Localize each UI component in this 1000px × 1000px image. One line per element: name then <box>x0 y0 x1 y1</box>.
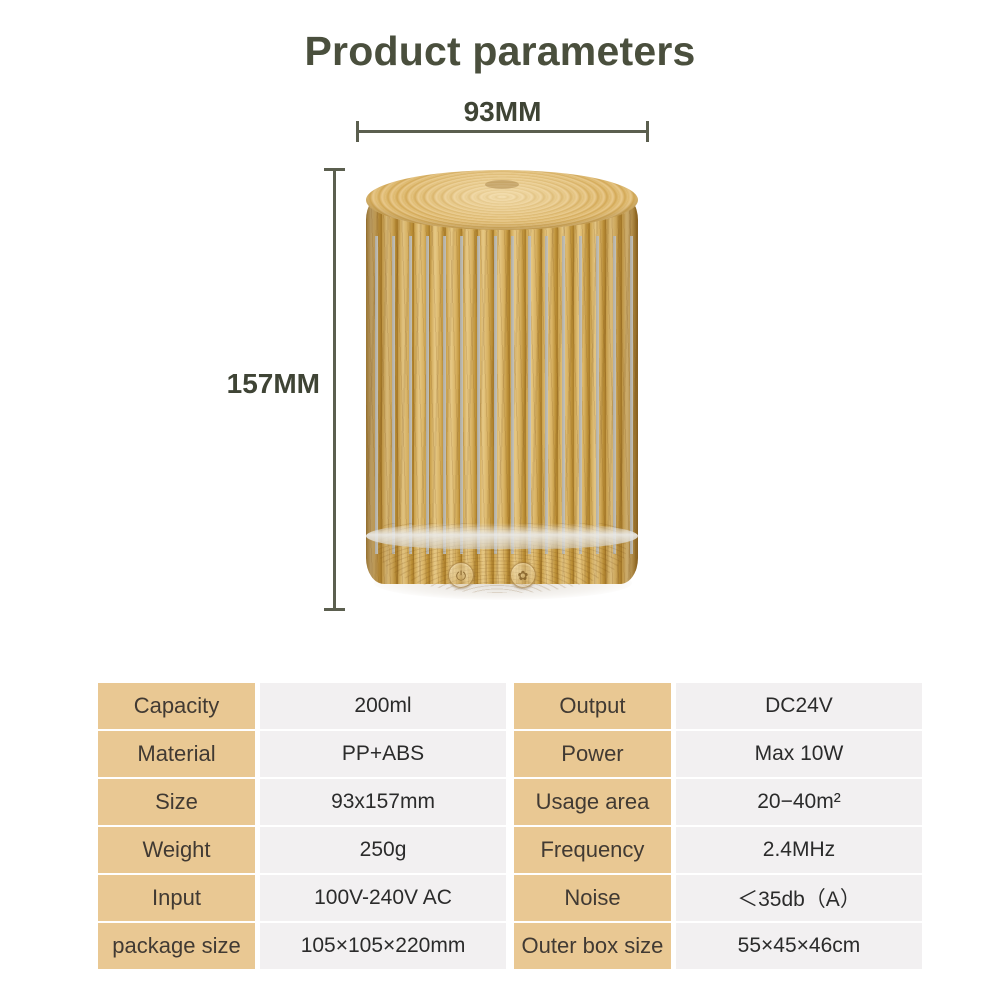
spec-value: ＜35db（A） <box>676 875 922 921</box>
table-row: package size 105×105×220mm Outer box siz… <box>98 923 922 969</box>
spec-value: 200ml <box>260 683 506 729</box>
spec-pair-right: Usage area 20−40m² <box>514 779 922 825</box>
height-dimension-label: 157MM <box>160 368 320 400</box>
spec-label: Weight <box>98 827 255 873</box>
spec-value: 55×45×46cm <box>676 923 922 969</box>
width-dimension-line <box>356 130 649 133</box>
light-button[interactable]: ✿ <box>510 562 536 588</box>
spec-pair-left: Weight 250g <box>98 827 506 873</box>
spec-pair-left: Size 93x157mm <box>98 779 506 825</box>
spec-label: Size <box>98 779 255 825</box>
spec-table: Capacity 200ml Output DC24V Material PP+… <box>98 683 922 969</box>
spec-value: 20−40m² <box>676 779 922 825</box>
spec-value: 93x157mm <box>260 779 506 825</box>
column-gap <box>506 683 514 729</box>
spec-value: PP+ABS <box>260 731 506 777</box>
spec-pair-right: Noise ＜35db（A） <box>514 875 922 921</box>
spec-value: DC24V <box>676 683 922 729</box>
power-button[interactable]: ⏻ <box>448 562 474 588</box>
spec-label: Output <box>514 683 671 729</box>
light-icon: ✿ <box>511 563 535 587</box>
spec-label: Usage area <box>514 779 671 825</box>
product-image: ⏻ ✿ <box>360 168 645 611</box>
height-dimension-cap-bottom <box>324 608 345 611</box>
spec-pair-right: Output DC24V <box>514 683 922 729</box>
spec-pair-left: package size 105×105×220mm <box>98 923 506 969</box>
power-icon: ⏻ <box>449 563 473 587</box>
spec-pair-left: Material PP+ABS <box>98 731 506 777</box>
spec-pair-left: Input 100V-240V AC <box>98 875 506 921</box>
spec-label: Material <box>98 731 255 777</box>
height-dimension-cap-top <box>324 168 345 171</box>
spec-label: Outer box size <box>514 923 671 969</box>
table-row: Weight 250g Frequency 2.4MHz <box>98 827 922 873</box>
column-gap <box>506 923 514 969</box>
spec-label: package size <box>98 923 255 969</box>
spec-value: Max 10W <box>676 731 922 777</box>
product-slats <box>366 236 638 554</box>
spec-label: Frequency <box>514 827 671 873</box>
spec-pair-right: Power Max 10W <box>514 731 922 777</box>
column-gap <box>506 779 514 825</box>
spec-label: Noise <box>514 875 671 921</box>
spec-value: 105×105×220mm <box>260 923 506 969</box>
spec-value: 2.4MHz <box>676 827 922 873</box>
column-gap <box>506 875 514 921</box>
spec-pair-right: Frequency 2.4MHz <box>514 827 922 873</box>
product-top-lid <box>366 170 638 230</box>
table-row: Input 100V-240V AC Noise ＜35db（A） <box>98 875 922 921</box>
mist-nozzle <box>485 180 519 189</box>
spec-label: Input <box>98 875 255 921</box>
table-row: Capacity 200ml Output DC24V <box>98 683 922 729</box>
spec-value: 100V-240V AC <box>260 875 506 921</box>
table-row: Size 93x157mm Usage area 20−40m² <box>98 779 922 825</box>
column-gap <box>506 731 514 777</box>
table-row: Material PP+ABS Power Max 10W <box>98 731 922 777</box>
spec-pair-left: Capacity 200ml <box>98 683 506 729</box>
spec-label: Power <box>514 731 671 777</box>
spec-value: 250g <box>260 827 506 873</box>
page-title: Product parameters <box>0 28 1000 75</box>
product-light-band <box>366 523 638 549</box>
column-gap <box>506 827 514 873</box>
spec-label: Capacity <box>98 683 255 729</box>
spec-pair-right: Outer box size 55×45×46cm <box>514 923 922 969</box>
width-dimension-label: 93MM <box>356 96 649 128</box>
height-dimension-line <box>333 168 336 611</box>
